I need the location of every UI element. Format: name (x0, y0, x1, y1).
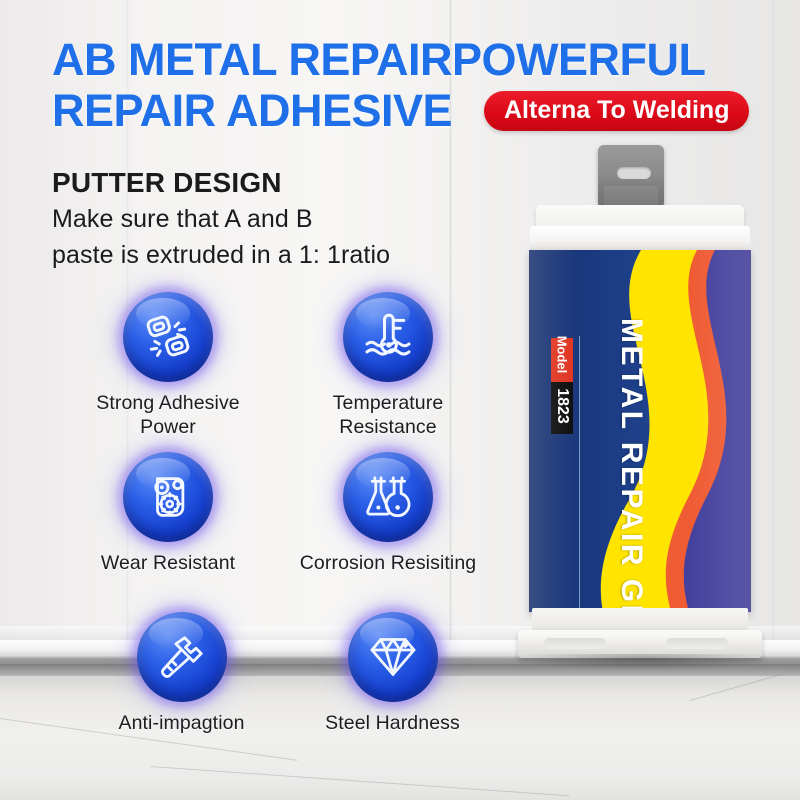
feature-row: Strong Adhesive Power (58, 292, 498, 452)
lab-flasks-icon (360, 469, 416, 525)
feature-label: Steel Hardness (287, 711, 498, 735)
base-notch (666, 638, 728, 649)
feature-item-steel-hardness: Steel Hardness (287, 612, 498, 772)
feature-label: Corrosion Resisiting (278, 551, 498, 575)
label-product-name: METAL REPAIR GLUE (614, 318, 648, 612)
model-word-tag: Model (551, 338, 573, 382)
feature-item-wear-resistant: Wear Resistant (58, 452, 278, 612)
feature-icon-badge (343, 452, 433, 542)
alterna-to-welding-badge: Alterna To Welding (484, 91, 749, 131)
diamond-icon (365, 629, 421, 685)
hammer-impact-icon (154, 629, 210, 685)
feature-label: Strong Adhesive Power (58, 391, 278, 439)
feature-label: Temperature Resistance (278, 391, 498, 439)
instruction-line-2: paste is extruded in a 1: 1ratio (52, 241, 390, 270)
belt-pulley-gear-icon (140, 469, 196, 525)
feature-item-strong-adhesive-power: Strong Adhesive Power (58, 292, 278, 452)
chain-link-icon (140, 309, 196, 365)
cap-slot (617, 167, 651, 179)
feature-icon-badge (137, 612, 227, 702)
product-marketing-poster: AB METAL REPAIRPOWERFUL REPAIR ADHESIVE … (0, 0, 800, 800)
feature-grid: Strong Adhesive Power (58, 292, 498, 772)
product-ground-shadow (514, 654, 770, 670)
feature-item-anti-impagtion: Anti-impagtion (76, 612, 287, 772)
instruction-line-1: Make sure that A and B (52, 205, 313, 234)
feature-row: Wear Resistant (58, 452, 498, 612)
cartridge-label: Model 1823 METAL REPAIR GLUE (529, 250, 751, 612)
base-notch (544, 638, 606, 649)
feature-icon-badge (348, 612, 438, 702)
model-number-tag: 1823 (551, 382, 573, 434)
feature-item-corrosion-resisiting: Corrosion Resisiting (278, 452, 498, 612)
feature-item-temperature-resistance: Temperature Resistance (278, 292, 498, 452)
feature-icon-badge (343, 292, 433, 382)
product-cartridge: Model 1823 METAL REPAIR GLUE (500, 130, 800, 740)
putter-design-title: PUTTER DESIGN (52, 167, 282, 199)
feature-icon-badge (123, 292, 213, 382)
feature-icon-badge (123, 452, 213, 542)
feature-label: Wear Resistant (58, 551, 278, 575)
label-divider-rule (579, 336, 580, 612)
headline-line-1: AB METAL REPAIRPOWERFUL (52, 34, 705, 85)
feature-row: Anti-impagtion (76, 612, 498, 772)
feature-label: Anti-impagtion (76, 711, 287, 735)
thermometer-waves-icon (360, 309, 416, 365)
